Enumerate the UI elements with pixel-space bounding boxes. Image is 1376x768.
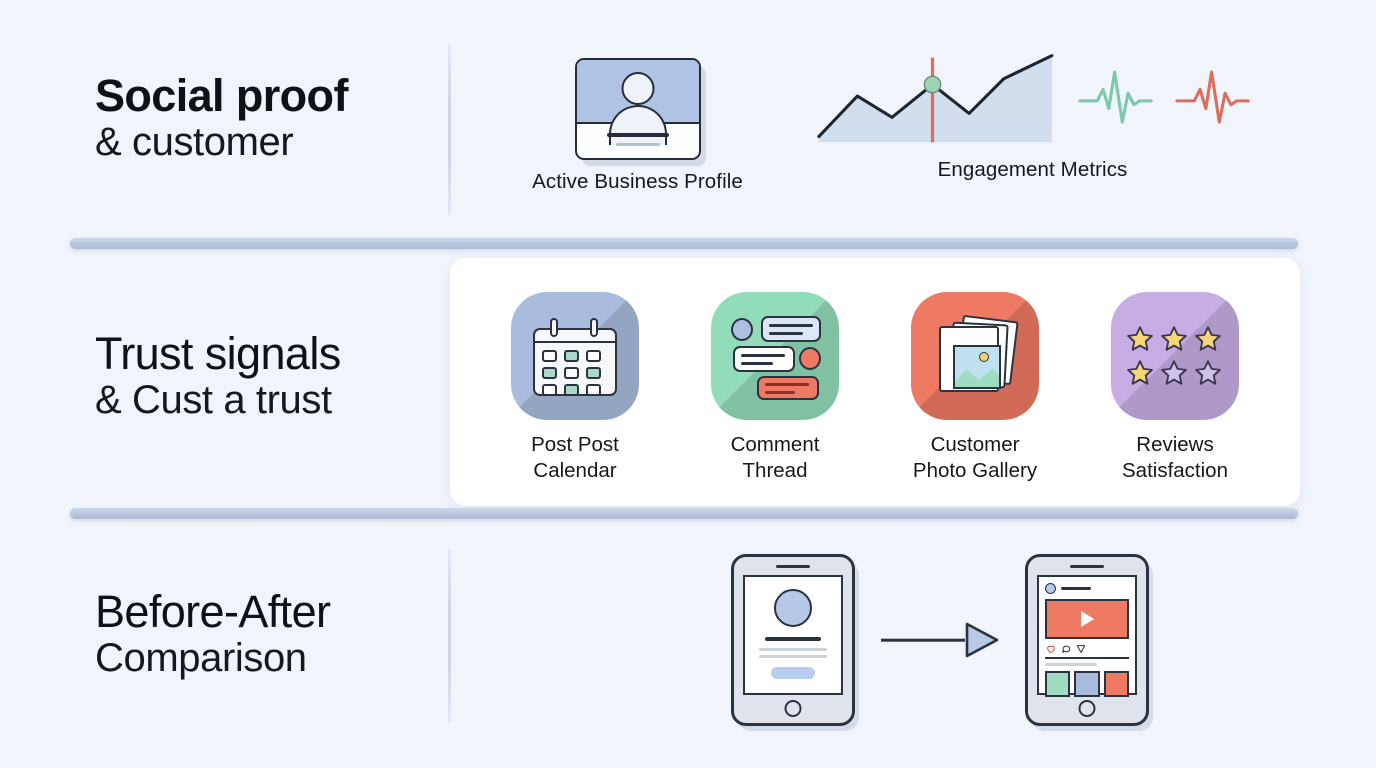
after-thumbnail-row: [1045, 671, 1129, 697]
pulse-green-icon: [1078, 65, 1153, 131]
phone-speaker: [1070, 565, 1104, 568]
row3-title-line2: Comparison: [95, 637, 435, 680]
row1-title-line1: Social proof: [95, 72, 435, 121]
row-title-trust-signals: Trust signals & Cust a trust: [95, 330, 435, 422]
comment-thread-icon: [711, 292, 839, 420]
row3-vertical-divider: [448, 550, 451, 722]
row3-title-line1: Before-After: [95, 588, 435, 637]
thumbnail-blue: [1074, 671, 1099, 697]
active-business-profile-caption: Active Business Profile: [490, 170, 785, 194]
send-icon: [1076, 644, 1086, 654]
tile-label-line2: Calendar: [505, 458, 645, 484]
heart-icon: [1046, 644, 1056, 654]
business-profile-card-icon: [575, 58, 701, 160]
row2-title-line2: & Cust a trust: [95, 379, 435, 422]
comment-icon: [1061, 644, 1071, 654]
star-rating-icon: [1111, 292, 1239, 420]
row1-vertical-divider: [448, 44, 451, 216]
star-empty-icon: [1159, 358, 1189, 388]
star-filled-icon: [1193, 324, 1223, 354]
phone-speaker: [776, 565, 810, 568]
phone-home-button: [785, 700, 802, 717]
before-text-line-1: [759, 648, 827, 651]
star-filled-icon: [1125, 358, 1155, 388]
star-empty-icon: [1193, 358, 1223, 388]
infographic-canvas: Social proof & customer Active Business …: [0, 0, 1376, 768]
tile-label: Post Post Calendar: [505, 432, 645, 484]
before-avatar: [774, 589, 812, 627]
row1-title-line2: & customer: [95, 121, 435, 164]
arrow-shaft: [881, 639, 965, 642]
arrow-head: [965, 622, 999, 658]
engagement-metrics-item[interactable]: Engagement Metrics: [815, 48, 1250, 182]
tile-reviews-satisfaction[interactable]: Reviews Satisfaction: [1105, 292, 1245, 484]
tile-label-line2: Thread: [705, 458, 845, 484]
trust-signal-tiles: Post Post Calendar: [450, 292, 1300, 484]
before-button: [771, 667, 815, 679]
pulse-red-icon: [1175, 65, 1250, 131]
before-title-line: [765, 637, 821, 641]
profile-subtitle-line: [616, 143, 660, 146]
phone-after-icon[interactable]: [1025, 554, 1149, 726]
tile-customer-photo-gallery[interactable]: Customer Photo Gallery: [905, 292, 1045, 484]
arrow-right-icon: [881, 625, 999, 655]
phone-before-screen: [743, 575, 843, 695]
after-name-line: [1061, 587, 1091, 590]
play-icon: [1081, 611, 1094, 627]
profile-name-line: [607, 133, 669, 137]
tile-label: Customer Photo Gallery: [905, 432, 1045, 484]
active-business-profile-item[interactable]: Active Business Profile: [490, 58, 785, 194]
thumbnail-salmon: [1104, 671, 1129, 697]
row-title-before-after: Before-After Comparison: [95, 588, 435, 680]
tile-comment-thread[interactable]: Comment Thread: [705, 292, 845, 484]
phone-home-button: [1079, 700, 1096, 717]
engagement-line-chart-icon: [815, 48, 1056, 148]
after-divider: [1045, 657, 1129, 659]
trust-signals-panel: Post Post Calendar: [450, 258, 1300, 506]
tile-label-line1: Reviews: [1105, 432, 1245, 458]
before-text-line-2: [759, 655, 827, 658]
after-caption-line: [1045, 663, 1097, 666]
engagement-metrics-caption: Engagement Metrics: [815, 158, 1250, 182]
section-divider-bottom: [70, 508, 1298, 519]
thumbnail-green: [1045, 671, 1070, 697]
tile-label-line1: Comment: [705, 432, 845, 458]
tile-post-calendar[interactable]: Post Post Calendar: [505, 292, 645, 484]
after-avatar: [1045, 583, 1056, 594]
row2-title-line1: Trust signals: [95, 330, 435, 379]
tile-label-line1: Customer: [905, 432, 1045, 458]
calendar-icon: [511, 292, 639, 420]
row-title-social-proof: Social proof & customer: [95, 72, 435, 164]
after-video-block: [1045, 599, 1129, 639]
tile-label-line2: Photo Gallery: [905, 458, 1045, 484]
star-filled-icon: [1125, 324, 1155, 354]
tile-label: Reviews Satisfaction: [1105, 432, 1245, 484]
after-action-icons: [1046, 644, 1086, 654]
before-after-comparison: [680, 545, 1200, 735]
profile-avatar-head: [621, 72, 654, 105]
tile-label-line1: Post Post: [505, 432, 645, 458]
phone-after-screen: [1037, 575, 1137, 695]
section-divider-top: [70, 238, 1298, 249]
star-filled-icon: [1159, 324, 1189, 354]
tile-label: Comment Thread: [705, 432, 845, 484]
photo-stack-icon: [911, 292, 1039, 420]
phone-before-icon[interactable]: [731, 554, 855, 726]
tile-label-line2: Satisfaction: [1105, 458, 1245, 484]
engagement-metrics-graphics: [815, 48, 1250, 148]
